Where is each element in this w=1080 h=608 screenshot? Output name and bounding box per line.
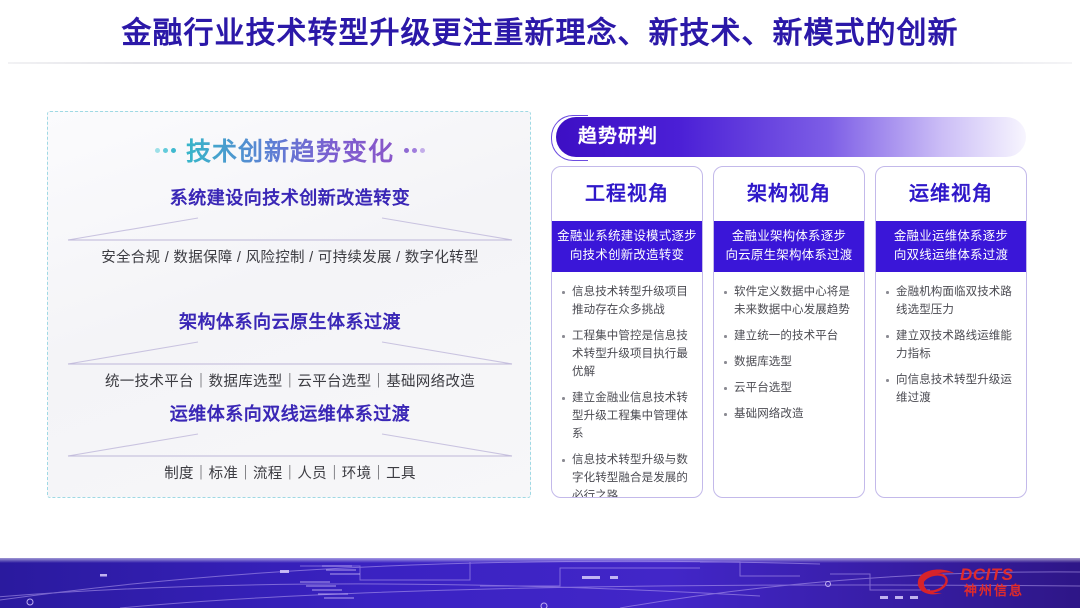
trend-change-panel: 技术创新趋势变化 系统建设向技术创新改造转变 安全合规 / 数据保障 / 风险控…: [47, 111, 531, 498]
panel-heading-label: 技术创新趋势变化: [186, 132, 394, 168]
funnel-shape-1: [48, 216, 532, 244]
page-title: 金融行业技术转型升级更注重新理念、新技术、新模式的创新: [0, 12, 1080, 56]
list-item: 建立统一的技术平台: [722, 327, 855, 345]
trend-group-1: 系统建设向技术创新改造转变 安全合规 / 数据保障 / 风险控制 / 可持续发展…: [48, 184, 532, 267]
dots-left-icon: [155, 148, 176, 153]
card-engineering-title: 工程视角: [552, 167, 702, 221]
list-item: 金融机构面临双技术路线选型压力: [884, 283, 1017, 319]
footer-banner: DCITS 神州信息: [0, 556, 1080, 608]
list-item: 工程集中管控是信息技术转型升级项目执行最优解: [560, 327, 693, 381]
card-operations-band-line1: 金融业运维体系逐步: [880, 227, 1022, 246]
trend-group-3: 运维体系向双线运维体系过渡 制度｜标准｜流程｜人员｜环境｜工具: [48, 400, 532, 483]
list-item: 数据库选型: [722, 353, 855, 371]
dots-right-icon: [404, 148, 425, 153]
slide-root: 金融行业技术转型升级更注重新理念、新技术、新模式的创新 技术创新趋势变化 系统建…: [0, 0, 1080, 608]
logo-en-text: DCITS: [960, 565, 1014, 585]
list-item: 软件定义数据中心将是未来数据中心发展趋势: [722, 283, 855, 319]
list-item: 建立金融业信息技术转型升级工程集中管理体系: [560, 389, 693, 443]
card-operations[interactable]: 运维视角 金融业运维体系逐步 向双线运维体系过渡 金融机构面临双技术路线选型压力…: [875, 166, 1027, 498]
list-item: 建立双技术路线运维能力指标: [884, 327, 1017, 363]
funnel-shape-3: [48, 432, 532, 460]
card-architecture-band-line1: 金融业架构体系逐步: [718, 227, 860, 246]
card-engineering-band: 金融业系统建设模式逐步 向技术创新改造转变: [552, 221, 702, 272]
trend-group-2: 架构体系向云原生体系过渡 统一技术平台｜数据库选型｜云平台选型｜基础网络改造: [48, 308, 532, 391]
trend-group-2-items: 统一技术平台｜数据库选型｜云平台选型｜基础网络改造: [48, 370, 532, 391]
list-item: 基础网络改造: [722, 405, 855, 423]
card-operations-title: 运维视角: [876, 167, 1026, 221]
trend-group-3-title: 运维体系向双线运维体系过渡: [48, 400, 532, 426]
perspective-cards: 工程视角 金融业系统建设模式逐步 向技术创新改造转变 信息技术转型升级项目推动存…: [551, 166, 1047, 498]
card-engineering[interactable]: 工程视角 金融业系统建设模式逐步 向技术创新改造转变 信息技术转型升级项目推动存…: [551, 166, 703, 498]
trend-group-3-items: 制度｜标准｜流程｜人员｜环境｜工具: [48, 462, 532, 483]
card-architecture-bullets: 软件定义数据中心将是未来数据中心发展趋势 建立统一的技术平台 数据库选型 云平台…: [714, 272, 864, 439]
list-item: 云平台选型: [722, 379, 855, 397]
logo-mark-icon: [914, 568, 958, 598]
title-divider: [8, 62, 1072, 64]
card-architecture[interactable]: 架构视角 金融业架构体系逐步 向云原生架构体系过渡 软件定义数据中心将是未来数据…: [713, 166, 865, 498]
card-operations-bullets: 金融机构面临双技术路线选型压力 建立双技术路线运维能力指标 向信息技术转型升级运…: [876, 272, 1026, 423]
list-item: 向信息技术转型升级运维过渡: [884, 371, 1017, 407]
card-operations-band: 金融业运维体系逐步 向双线运维体系过渡: [876, 221, 1026, 272]
trend-group-1-title: 系统建设向技术创新改造转变: [48, 184, 532, 210]
trend-group-1-items: 安全合规 / 数据保障 / 风险控制 / 可持续发展 / 数字化转型: [48, 246, 532, 267]
ribbon-label: 趋势研判: [578, 117, 658, 157]
card-engineering-band-line1: 金融业系统建设模式逐步: [556, 227, 698, 246]
card-engineering-band-line2: 向技术创新改造转变: [556, 246, 698, 265]
card-operations-band-line2: 向双线运维体系过渡: [880, 246, 1022, 265]
panel-heading-row: 技术创新趋势变化: [48, 132, 532, 168]
company-logo: DCITS 神州信息: [914, 566, 1064, 602]
card-engineering-bullets: 信息技术转型升级项目推动存在众多挑战 工程集中管控是信息技术转型升级项目执行最优…: [552, 272, 702, 498]
funnel-shape-2: [48, 340, 532, 368]
trend-group-2-title: 架构体系向云原生体系过渡: [48, 308, 532, 334]
list-item: 信息技术转型升级与数字化转型融合是发展的必行之路: [560, 451, 693, 498]
card-architecture-band: 金融业架构体系逐步 向云原生架构体系过渡: [714, 221, 864, 272]
trend-judgement-ribbon: 趋势研判: [556, 117, 1026, 157]
title-area: 金融行业技术转型升级更注重新理念、新技术、新模式的创新: [0, 12, 1080, 64]
card-architecture-title: 架构视角: [714, 167, 864, 221]
card-architecture-band-line2: 向云原生架构体系过渡: [718, 246, 860, 265]
list-item: 信息技术转型升级项目推动存在众多挑战: [560, 283, 693, 319]
logo-cn-text: 神州信息: [964, 583, 1024, 599]
